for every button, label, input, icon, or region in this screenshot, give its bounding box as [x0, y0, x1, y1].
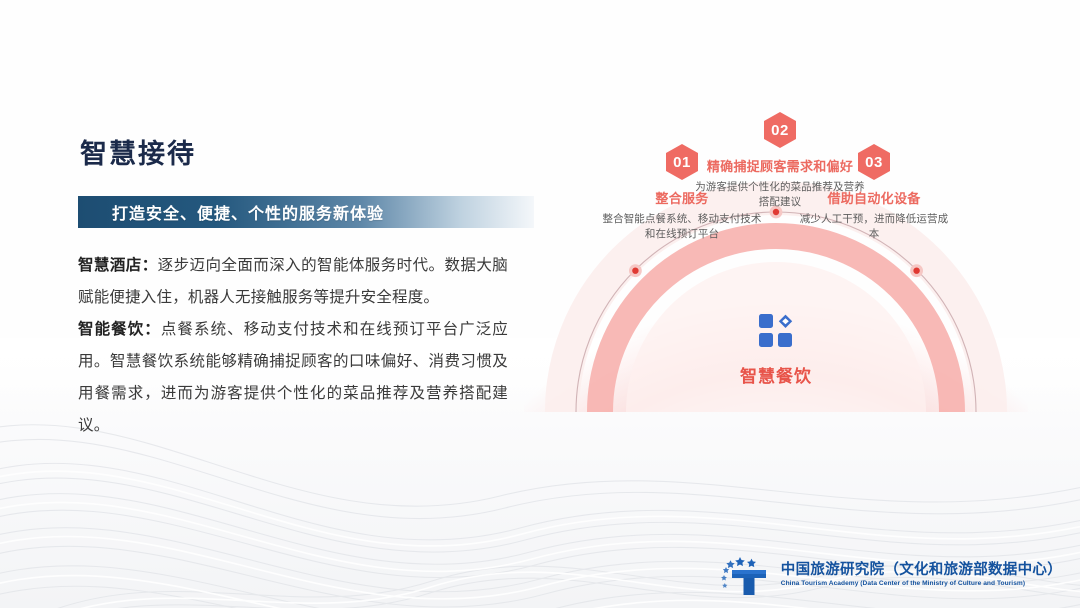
diagram-center: 智慧餐饮	[496, 314, 1056, 387]
slide-canvas: 智慧接待 打造安全、便捷、个性的服务新体验 智慧酒店：逐步迈向全面而深入的智能体…	[0, 0, 1080, 608]
tourism-academy-t-star-logo	[720, 554, 772, 596]
paragraph-smart-hotel: 智慧酒店：逐步迈向全面而深入的智能体服务时代。数据大脑赋能便捷入住，机器人无接触…	[78, 250, 508, 314]
diagram-node-03-title: 借助自动化设备	[798, 190, 950, 208]
paragraph-smart-dining-lead: 智能餐饮：	[78, 321, 161, 338]
footer-logo: 中国旅游研究院（文化和旅游部数据中心） China Tourism Academ…	[720, 554, 1062, 596]
section-banner-label: 打造安全、便捷、个性的服务新体验	[78, 200, 384, 224]
diagram-node-01-number: 01	[673, 154, 691, 171]
footer-logo-text: 中国旅游研究院（文化和旅游部数据中心） China Tourism Academ…	[781, 561, 1062, 589]
section-banner: 打造安全、便捷、个性的服务新体验	[78, 196, 534, 228]
left-content-column: 智慧接待 打造安全、便捷、个性的服务新体验 智慧酒店：逐步迈向全面而深入的智能体…	[78, 138, 548, 442]
diagram-center-label: 智慧餐饮	[496, 362, 1056, 387]
diagram-node-02-title: 精确捕捉顾客需求和偏好	[692, 158, 868, 176]
diagram-node-03-number: 03	[865, 154, 883, 171]
grid-diamond-icon	[759, 314, 793, 348]
diagram-node-02-number: 02	[771, 122, 789, 139]
diagram-node-03-desc: 减少人工干预，进而降低运营成本	[798, 212, 950, 242]
arc-diagram: 01 整合服务 整合智能点餐系统、移动支付技术和在线预订平台 02 精确捕捉顾客…	[496, 92, 1056, 422]
paragraph-smart-dining: 智能餐饮：点餐系统、移动支付技术和在线预订平台广泛应用。智慧餐饮系统能够精确捕捉…	[78, 314, 508, 442]
diagram-node-03: 03 借助自动化设备 减少人工干预，进而降低运营成本	[798, 190, 950, 242]
diagram-node-01-desc: 整合智能点餐系统、移动支付技术和在线预订平台	[602, 212, 762, 242]
footer-logo-cn: 中国旅游研究院（文化和旅游部数据中心）	[781, 561, 1062, 579]
paragraph-smart-hotel-lead: 智慧酒店：	[78, 257, 158, 274]
body-copy: 智慧酒店：逐步迈向全面而深入的智能体服务时代。数据大脑赋能便捷入住，机器人无接触…	[78, 250, 508, 442]
footer-logo-en: China Tourism Academy (Data Center of th…	[781, 580, 1062, 589]
page-title: 智慧接待	[80, 138, 548, 170]
